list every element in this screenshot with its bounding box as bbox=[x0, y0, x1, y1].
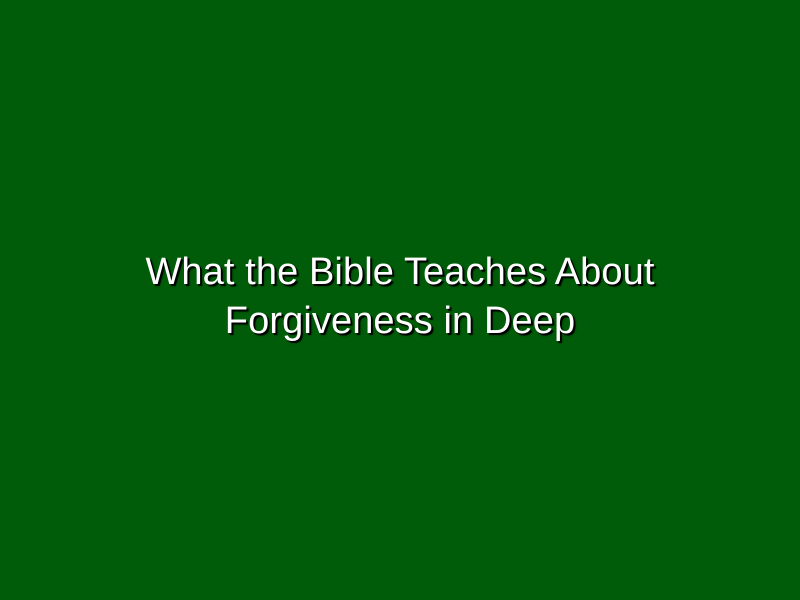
title-block: What the Bible Teaches About Forgiveness… bbox=[55, 248, 745, 346]
page-title: What the Bible Teaches About Forgiveness… bbox=[55, 248, 745, 346]
title-card-canvas: What the Bible Teaches About Forgiveness… bbox=[0, 0, 800, 600]
